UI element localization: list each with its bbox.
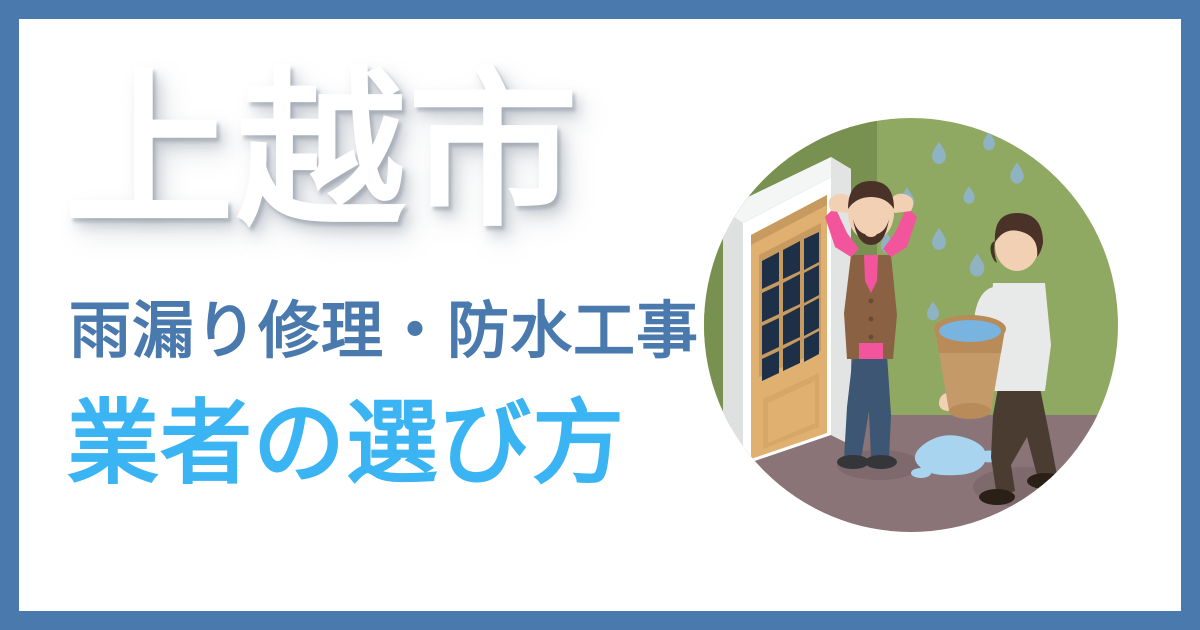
text-block: 上越市 雨漏り修理・防水工事 業者の選び方: [19, 19, 719, 611]
scene-group: [701, 115, 1121, 535]
banner-root: 上越市 雨漏り修理・防水工事 業者の選び方: [0, 0, 1200, 630]
puddle-droplet: [911, 468, 931, 478]
page-title: 上越市: [64, 67, 684, 237]
bucket-water-surface: [939, 320, 1001, 342]
illustration-leaking-roof: [701, 115, 1121, 535]
tagline: 業者の選び方: [67, 398, 707, 490]
door-trim-side: [723, 209, 743, 465]
subtitle: 雨漏り修理・防水工事: [69, 300, 709, 362]
illustration-svg: [701, 115, 1121, 535]
inner-white-card: 上越市 雨漏り修理・防水工事 業者の選び方: [19, 19, 1181, 611]
